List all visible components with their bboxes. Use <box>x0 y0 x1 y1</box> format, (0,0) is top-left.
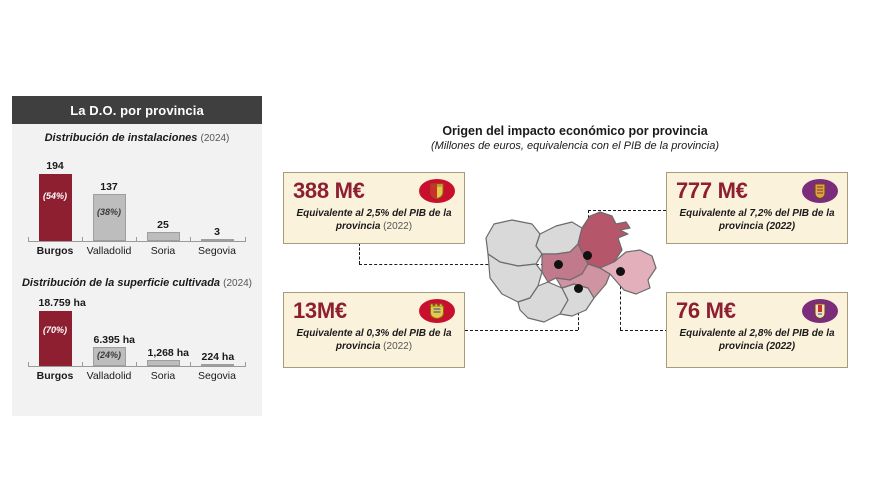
chart2-value-valladolid: 6.395 ha <box>94 334 125 346</box>
chart1-category-labels: Burgos Valladolid Soria Segovia <box>28 245 246 263</box>
chart-title-superficie: Distribución de la superficie cultivada … <box>12 263 262 289</box>
chart1-value-soria: 25 <box>148 219 179 231</box>
panel-header: La D.O. por provincia <box>12 96 262 124</box>
chart2-value-soria: 1,268 ha <box>148 347 179 359</box>
chart1-bar-valladolid: 137 (38%) <box>82 194 136 241</box>
callout-burgos-value: 777 M€ <box>676 179 748 202</box>
valladolid-crest-icon <box>419 179 455 203</box>
chart2-cat-burgos: Burgos <box>25 370 85 382</box>
chart2-title-year: (2024) <box>223 278 252 289</box>
chart1-cat-segovia: Segovia <box>187 245 247 257</box>
map-dot-burgos <box>583 251 592 260</box>
chart1-bar-soria: 25 <box>136 232 190 241</box>
soria-crest-icon <box>802 299 838 323</box>
right-title-subtitle: (Millones de euros, equivalencia con el … <box>340 140 810 152</box>
callout-segovia-top: 13M€ <box>293 299 455 323</box>
chart2-cat-soria: Soria <box>133 370 193 382</box>
callout-valladolid-top: 388 M€ <box>293 179 455 203</box>
chart1-value-burgos: 194 <box>39 160 72 172</box>
chart1-value-segovia: 3 <box>202 226 233 238</box>
chart2-pct-valladolid: (24%) <box>94 350 125 360</box>
callout-segovia-sub: Equivalente al 0,3% del PIB de la provin… <box>293 328 455 353</box>
chart2-bar-segovia: 224 ha <box>190 364 244 366</box>
chart1-cat-valladolid: Valladolid <box>79 245 139 257</box>
chart1-title-year: (2024) <box>200 133 229 144</box>
chart2-bar-burgos: 18.759 ha (70%) <box>28 311 82 366</box>
chart2-pct-burgos: (70%) <box>39 325 72 335</box>
panel-body: Distribución de instalaciones (2024) 194… <box>12 124 262 416</box>
chart1-cat-soria: Soria <box>133 245 193 257</box>
chart2-bar-soria: 1,268 ha <box>136 360 190 366</box>
burgos-crest-icon <box>802 179 838 203</box>
chart2-title-text: Distribución de la superficie cultivada <box>22 277 220 289</box>
chart1-pct-burgos: (54%) <box>39 191 72 201</box>
chart2-value-burgos: 18.759 ha <box>39 297 72 309</box>
callout-valladolid-sub: Equivalente al 2,5% del PIB de la provin… <box>293 208 455 233</box>
chart2-axis-line <box>28 366 246 367</box>
connector-valladolid-v <box>359 243 360 264</box>
segovia-shield-glyph <box>430 303 445 319</box>
callout-segovia-value: 13M€ <box>293 299 347 322</box>
chart-title-instalaciones: Distribución de instalaciones (2024) <box>12 124 262 144</box>
chart2-bar-valladolid: 6.395 ha (24%) <box>82 347 136 366</box>
map-dot-segovia <box>574 284 583 293</box>
callout-segovia[interactable]: 13M€ Equivalente al 0,3% del PIB de la p… <box>283 292 465 368</box>
chart1-value-valladolid: 137 <box>94 181 125 193</box>
panel-header-title: La D.O. por provincia <box>70 103 204 118</box>
castilla-y-leon-map <box>478 210 668 340</box>
chart2-plot-area: 18.759 ha (70%) 6.395 ha (24%) 1,268 ha … <box>28 295 246 367</box>
callout-valladolid[interactable]: 388 M€ Equivalente al 2,5% del PIB de la… <box>283 172 465 244</box>
valladolid-shield-glyph <box>430 183 444 199</box>
chart2-cat-valladolid: Valladolid <box>79 370 139 382</box>
do-por-provincia-panel: La D.O. por provincia Distribución de in… <box>12 96 262 416</box>
chart2-value-segovia: 224 ha <box>202 351 233 363</box>
callout-burgos-sub-text: Equivalente al 7,2% del PIB de la provin… <box>679 208 834 232</box>
callout-soria-sub-text: Equivalente al 2,8% del PIB de la provin… <box>679 328 834 352</box>
callout-segovia-year: (2022) <box>383 341 412 352</box>
right-section-title: Origen del impacto económico por provinc… <box>340 124 810 152</box>
callout-soria-sub: Equivalente al 2,8% del PIB de la provin… <box>676 328 838 353</box>
soria-shield-glyph <box>814 303 826 319</box>
chart1-pct-valladolid: (38%) <box>94 207 125 217</box>
callout-segovia-sub-text: Equivalente al 0,3% del PIB de la provin… <box>296 328 451 352</box>
callout-burgos[interactable]: 777 M€ Equivalente al 7,2% del PIB de la… <box>666 172 848 244</box>
chart1-bar-burgos: 194 (54%) <box>28 174 82 241</box>
chart1-bar-segovia: 3 <box>190 239 244 241</box>
callout-valladolid-year: (2022) <box>383 221 412 232</box>
chart1-plot-area: 194 (54%) 137 (38%) 25 3 <box>28 150 246 242</box>
chart1-title-text: Distribución de instalaciones <box>45 132 198 144</box>
map-dot-soria <box>616 267 625 276</box>
segovia-crest-icon <box>419 299 455 323</box>
callout-soria[interactable]: 76 M€ Equivalente al 2,8% del PIB de la … <box>666 292 848 368</box>
callout-burgos-top: 777 M€ <box>676 179 838 203</box>
chart1-axis-line <box>28 241 246 242</box>
right-title-main: Origen del impacto económico por provinc… <box>340 124 810 138</box>
chart1-cat-burgos: Burgos <box>25 245 85 257</box>
callout-valladolid-sub-text: Equivalente al 2,5% del PIB de la provin… <box>296 208 451 232</box>
callout-soria-value: 76 M€ <box>676 299 736 322</box>
map-svg <box>478 210 668 340</box>
chart2-category-labels: Burgos Valladolid Soria Segovia <box>28 370 246 388</box>
burgos-shield-glyph <box>814 183 826 199</box>
callout-burgos-sub: Equivalente al 7,2% del PIB de la provin… <box>676 208 838 233</box>
callout-soria-top: 76 M€ <box>676 299 838 323</box>
map-dot-valladolid <box>554 260 563 269</box>
callout-valladolid-value: 388 M€ <box>293 179 365 202</box>
chart2-cat-segovia: Segovia <box>187 370 247 382</box>
